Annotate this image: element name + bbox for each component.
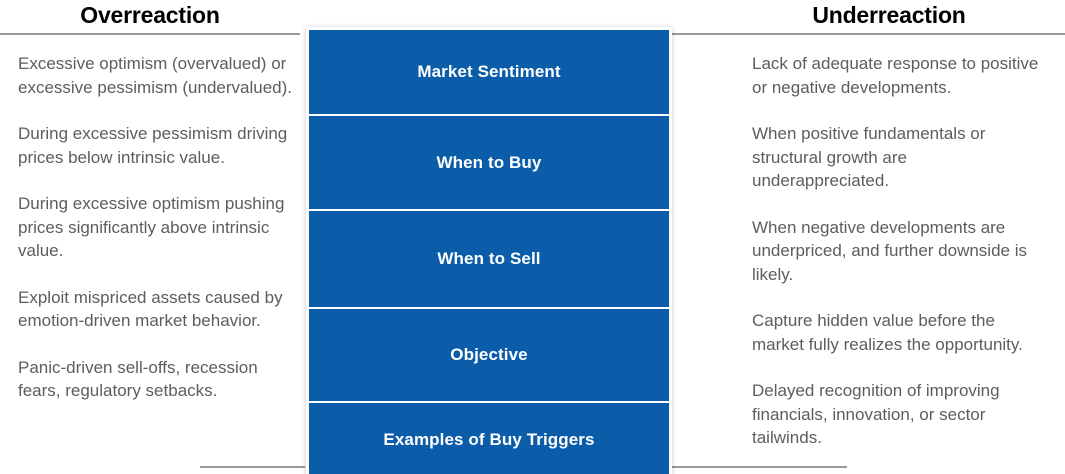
column-heading-overreaction: Overreaction xyxy=(0,2,300,29)
overreaction-item-5: Panic-driven sell-offs, recession fears,… xyxy=(18,356,296,403)
divider-bottom-left xyxy=(200,466,305,468)
divider-top-left xyxy=(0,33,300,35)
overreaction-item-3: During excessive optimism pushing prices… xyxy=(18,192,296,263)
category-row-when-to-sell: When to Sell xyxy=(309,211,669,309)
category-label: When to Buy xyxy=(437,153,542,173)
divider-top-right xyxy=(671,33,1065,35)
overreaction-column: Excessive optimism (overvalued) or exces… xyxy=(18,52,296,426)
category-stack: Market Sentiment When to Buy When to Sel… xyxy=(306,27,672,474)
category-row-when-to-buy: When to Buy xyxy=(309,116,669,211)
underreaction-item-1: Lack of adequate response to positive or… xyxy=(752,52,1044,99)
category-row-examples-of-buy-triggers: Examples of Buy Triggers xyxy=(309,403,669,474)
comparison-infographic: Overreaction Underreaction Excessive opt… xyxy=(0,0,1065,474)
category-label: When to Sell xyxy=(437,249,540,269)
column-heading-underreaction: Underreaction xyxy=(739,2,1039,29)
underreaction-item-2: When positive fundamentals or structural… xyxy=(752,122,1044,193)
overreaction-item-1: Excessive optimism (overvalued) or exces… xyxy=(18,52,296,99)
category-label: Objective xyxy=(450,345,527,365)
underreaction-column: Lack of adequate response to positive or… xyxy=(752,52,1044,473)
underreaction-item-3: When negative developments are underpric… xyxy=(752,216,1044,287)
overreaction-item-2: During excessive pessimism driving price… xyxy=(18,122,296,169)
category-label: Market Sentiment xyxy=(417,62,560,82)
category-label: Examples of Buy Triggers xyxy=(383,430,594,450)
underreaction-item-4: Capture hidden value before the market f… xyxy=(752,309,1044,356)
category-row-objective: Objective xyxy=(309,309,669,403)
underreaction-item-5: Delayed recognition of improving financi… xyxy=(752,379,1044,450)
overreaction-item-4: Exploit mispriced assets caused by emoti… xyxy=(18,286,296,333)
category-row-market-sentiment: Market Sentiment xyxy=(309,30,669,116)
